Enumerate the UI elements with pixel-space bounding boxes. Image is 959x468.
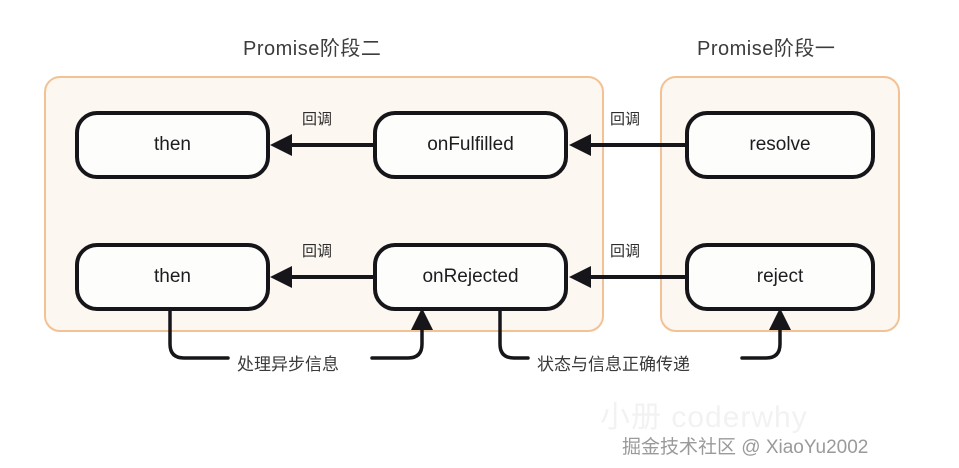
node-onrejected[interactable]: onRejected [373,243,568,311]
node-onrejected-label: onRejected [422,266,518,288]
node-onfulfilled[interactable]: onFulfilled [373,111,568,179]
node-resolve[interactable]: resolve [685,111,875,179]
watermark-credit: 掘金技术社区 @ XiaoYu2002 [622,432,868,459]
node-resolve-label: resolve [749,134,810,156]
node-reject[interactable]: reject [685,243,875,311]
edge-label-callback-onfulfilled-then: 回调 [302,108,332,129]
edge-label-callback-resolve-onfulfilled: 回调 [610,108,640,129]
node-then-bottom[interactable]: then [75,243,270,311]
annotation-async-handling: 处理异步信息 [237,350,339,375]
edge-label-callback-onrejected-then: 回调 [302,240,332,261]
watermark-faint: 小册 coderwhy [600,392,808,436]
node-onfulfilled-label: onFulfilled [427,134,514,156]
annotation-state-passing: 状态与信息正确传递 [537,350,690,375]
group-title-stage2: Promise阶段二 [243,32,381,61]
group-title-stage1: Promise阶段一 [697,32,835,61]
diagram-canvas: Promise阶段二 Promise阶段一 then onFulfilled [0,0,959,468]
node-then-top-label: then [154,134,191,156]
edge-label-callback-reject-onrejected: 回调 [610,240,640,261]
node-reject-label: reject [757,266,803,288]
node-then-top[interactable]: then [75,111,270,179]
node-then-bottom-label: then [154,266,191,288]
